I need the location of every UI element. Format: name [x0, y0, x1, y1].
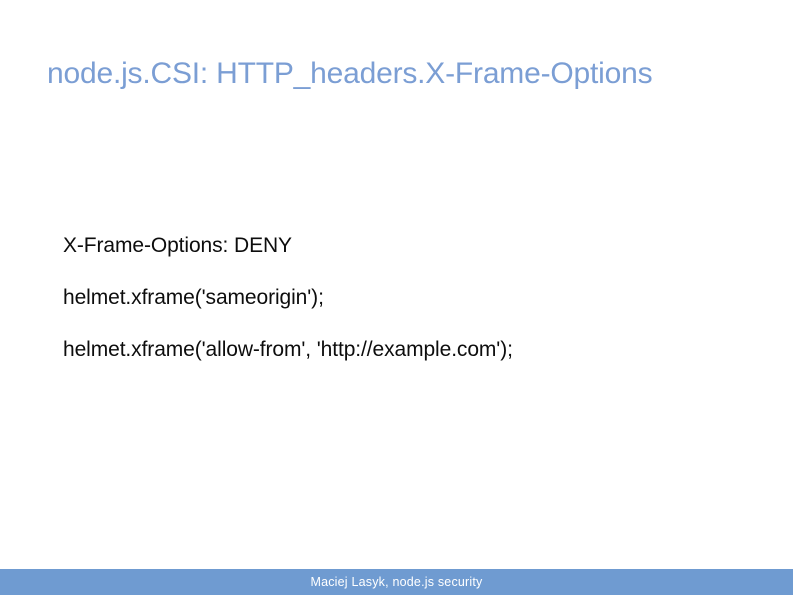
page-title: node.js.CSI: HTTP_headers.X-Frame-Option… — [47, 54, 747, 94]
footer-text: Maciej Lasyk, node.js security — [310, 575, 482, 589]
code-line-1: X-Frame-Options: DENY — [63, 233, 753, 259]
slide-footer-bar: Maciej Lasyk, node.js security — [0, 569, 793, 595]
presentation-slide: node.js.CSI: HTTP_headers.X-Frame-Option… — [0, 0, 793, 595]
code-line-2: helmet.xframe('sameorigin'); — [63, 285, 753, 311]
code-line-3: helmet.xframe('allow-from', 'http://exam… — [63, 337, 753, 363]
slide-content-block: X-Frame-Options: DENY helmet.xframe('sam… — [63, 233, 753, 363]
